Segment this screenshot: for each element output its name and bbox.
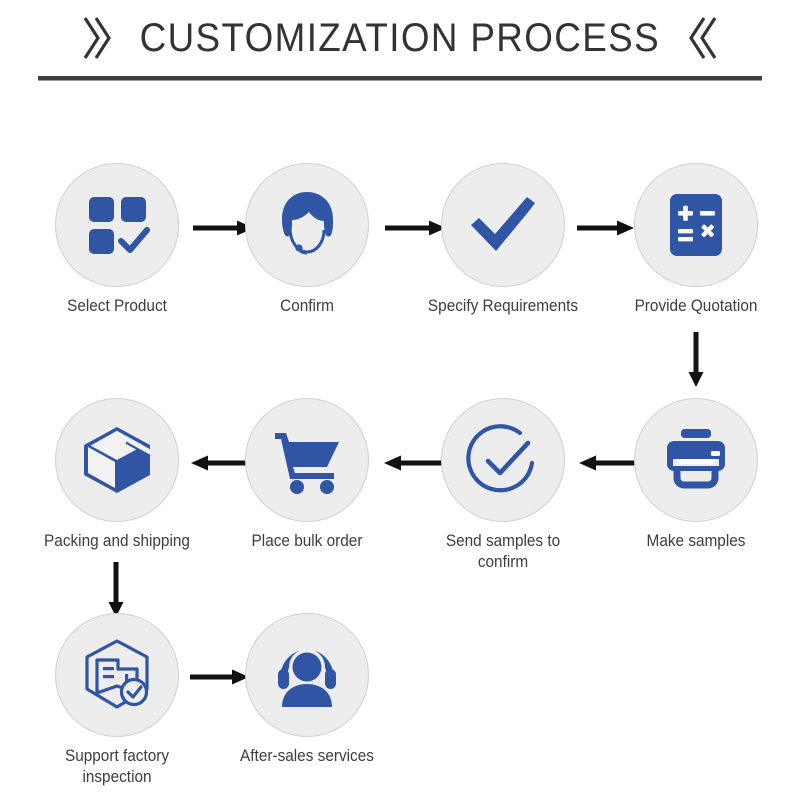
process-step-provide-quotation[interactable]: Provide Quotation: [611, 163, 781, 317]
process-flow: Select Product Confirm: [0, 0, 800, 800]
process-step-support-factory-inspection[interactable]: Support factory inspection: [32, 613, 202, 787]
step-label: Specify Requirements: [424, 296, 582, 317]
calculator-icon: [660, 189, 732, 261]
grid-check-icon: [81, 189, 153, 261]
step-icon-circle: [55, 398, 179, 522]
step-label: Packing and shipping: [38, 531, 196, 552]
step-icon-circle: [245, 613, 369, 737]
arrow-down-right: [687, 332, 705, 388]
step-label: Send samples to confirm: [424, 531, 582, 572]
process-step-select-product[interactable]: Select Product: [32, 163, 202, 317]
step-icon-circle: [55, 163, 179, 287]
step-label: Make samples: [617, 531, 775, 552]
process-step-confirm[interactable]: Confirm: [222, 163, 392, 317]
step-icon-circle: [634, 398, 758, 522]
step-label: After-sales services: [228, 746, 386, 767]
checkmark-icon: [465, 187, 541, 263]
step-label: Provide Quotation: [617, 296, 775, 317]
printer-icon: [659, 423, 733, 497]
step-icon-circle: [55, 613, 179, 737]
process-step-after-sales-services[interactable]: After-sales services: [222, 613, 392, 767]
step-label: Support factory inspection: [38, 746, 196, 787]
process-step-specify-requirements[interactable]: Specify Requirements: [418, 163, 588, 317]
process-step-send-samples-to-confirm[interactable]: Send samples to confirm: [418, 398, 588, 572]
step-icon-circle: [245, 398, 369, 522]
step-icon-circle: [441, 163, 565, 287]
process-step-make-samples[interactable]: Make samples: [611, 398, 781, 552]
shopping-cart-icon: [269, 422, 345, 498]
step-label: Place bulk order: [228, 531, 386, 552]
support-agent-icon: [268, 636, 346, 714]
process-step-place-bulk-order[interactable]: Place bulk order: [222, 398, 392, 552]
step-icon-circle: [245, 163, 369, 287]
package-box-icon: [78, 421, 156, 499]
step-label: Confirm: [228, 296, 386, 317]
operator-headset-icon: [268, 186, 346, 264]
step-label: Select Product: [38, 296, 196, 317]
process-step-packing-and-shipping[interactable]: Packing and shipping: [32, 398, 202, 552]
arrow-down-left: [107, 562, 125, 618]
circle-check-icon: [464, 421, 542, 499]
factory-inspection-icon: [78, 636, 156, 714]
step-icon-circle: [441, 398, 565, 522]
step-icon-circle: [634, 163, 758, 287]
